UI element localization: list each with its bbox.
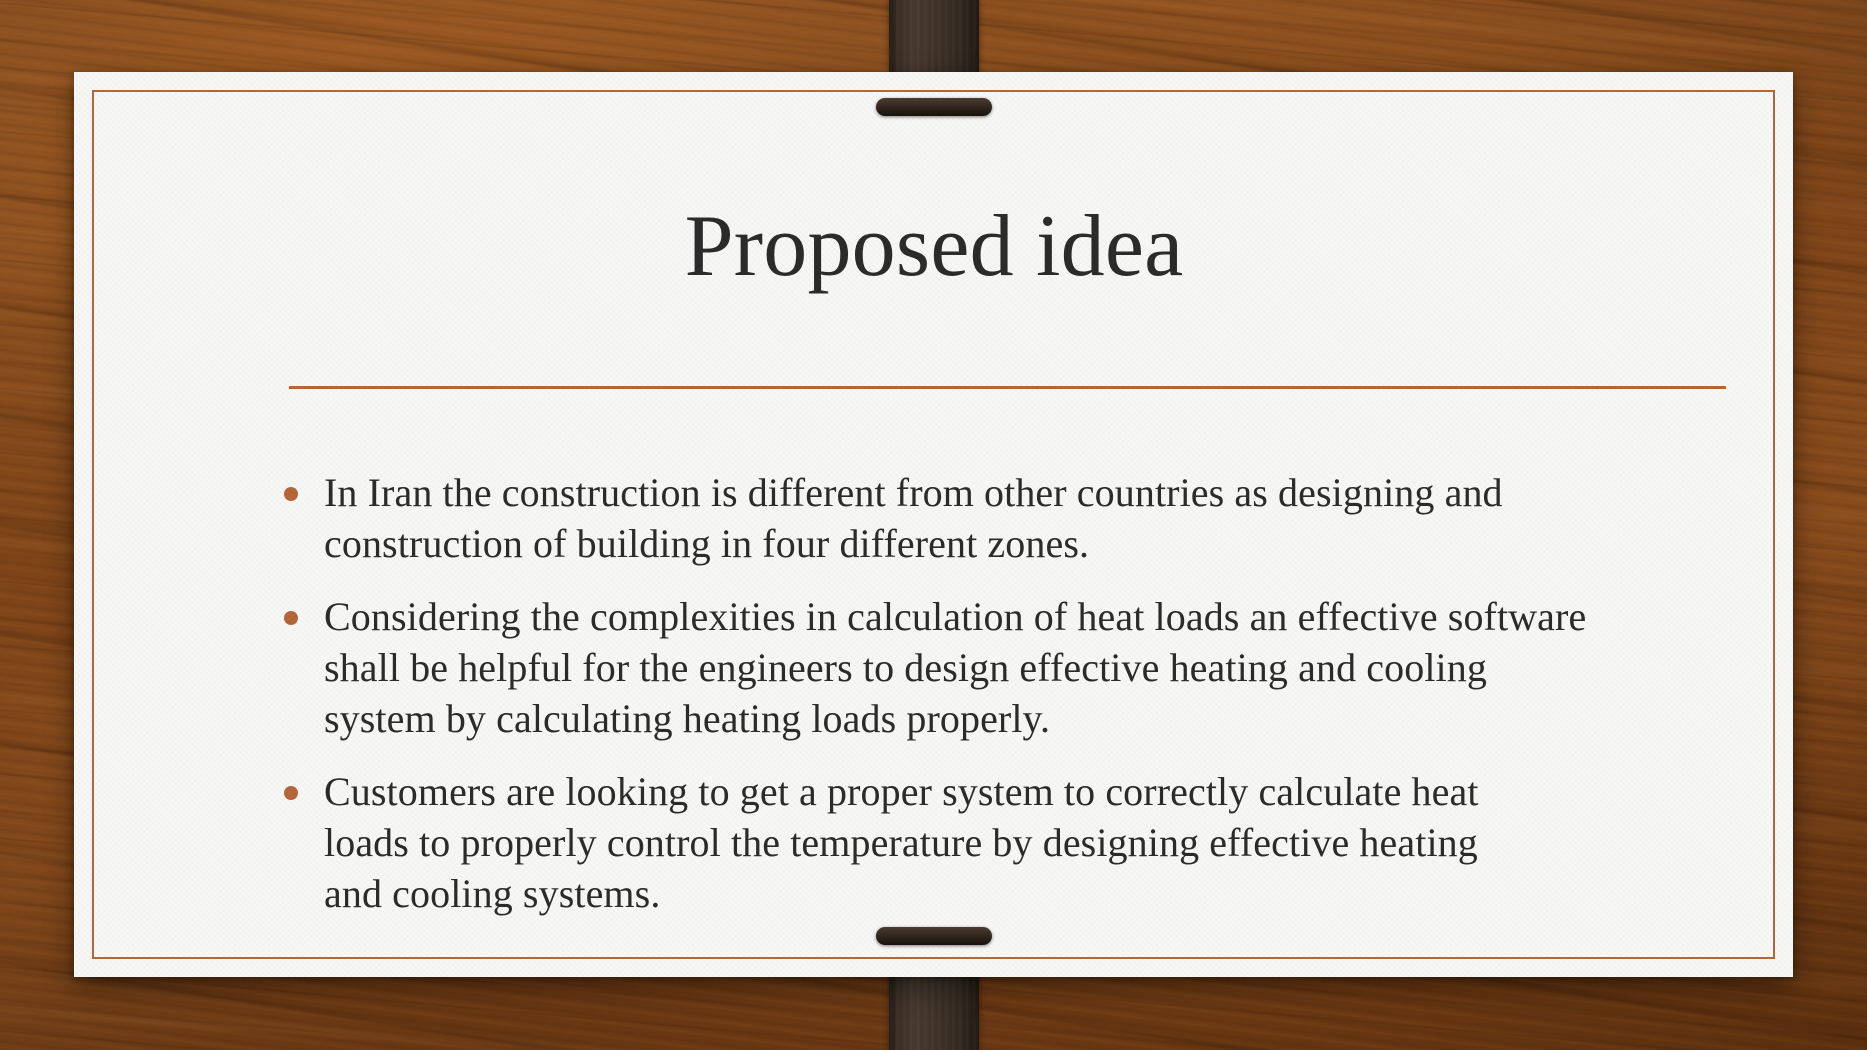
clip-cap-top-icon [876,98,992,116]
list-item: In Iran the construction is different fr… [284,467,1744,569]
bullet-list: In Iran the construction is different fr… [284,467,1744,919]
bullet-dot-icon [284,487,298,501]
bullet-text: Customers are looking to get a proper sy… [324,766,1484,919]
page-title: Proposed idea [164,200,1704,293]
slide-card: Proposed idea In Iran the construction i… [74,72,1793,977]
bullet-dot-icon [284,786,298,800]
bullet-text: Considering the complexities in calculat… [324,591,1596,744]
title-divider [289,386,1726,389]
bullet-dot-icon [284,611,298,625]
clip-cap-bottom-icon [876,927,992,945]
list-item: Considering the complexities in calculat… [284,591,1744,744]
list-item: Customers are looking to get a proper sy… [284,766,1744,919]
slide-stage: Proposed idea In Iran the construction i… [0,0,1867,1050]
bullet-text: In Iran the construction is different fr… [324,467,1504,569]
slide-content: Proposed idea In Iran the construction i… [74,72,1793,977]
